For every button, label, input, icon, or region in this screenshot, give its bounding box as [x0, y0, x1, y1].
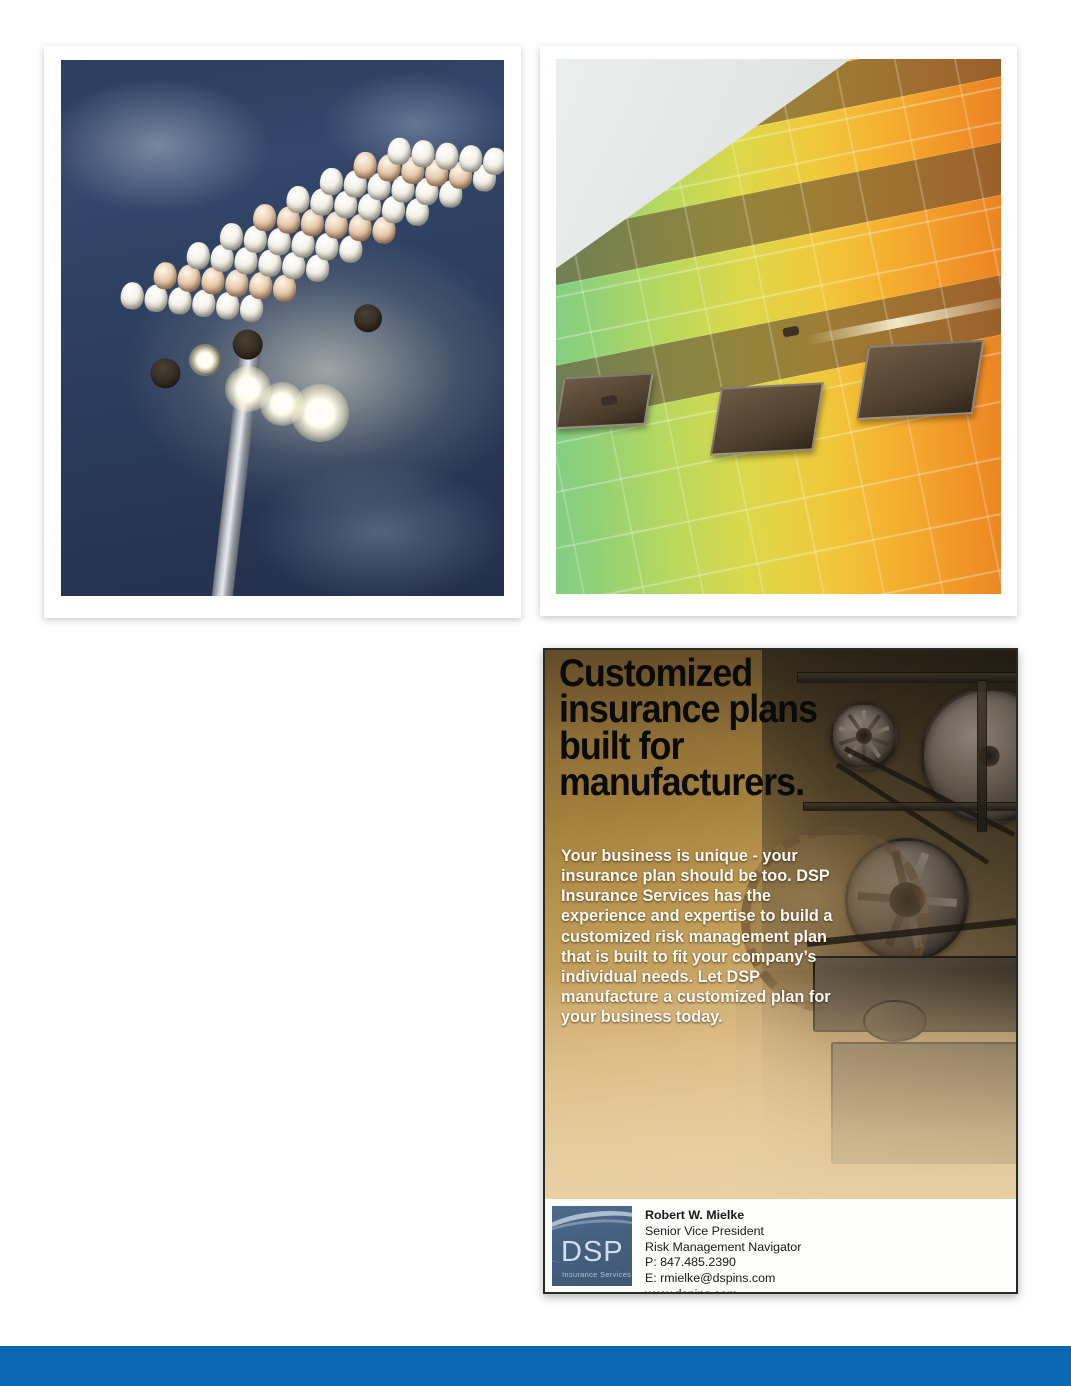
ad-headline: Customized insurance plans built for man…: [559, 656, 835, 801]
contact-website: www.dspins.com: [645, 1287, 801, 1294]
page-footer-bar: [0, 1346, 1071, 1386]
dsp-logo: DSP Insurance Services: [552, 1206, 632, 1286]
ad-body-text: Your business is unique - your insurance…: [561, 846, 839, 1027]
contact-title: Senior Vice President: [645, 1224, 801, 1240]
stadium-lights-photo: [61, 60, 504, 596]
window-awning: [710, 383, 824, 456]
building-facade-photo: [556, 59, 1001, 594]
logo-tagline: Insurance Services: [562, 1270, 631, 1279]
dsp-insurance-advertisement: Customized insurance plans built for man…: [543, 648, 1018, 1294]
contact-email: E: rmielke@dspins.com: [645, 1271, 801, 1287]
contact-phone: P: 847.485.2390: [645, 1255, 801, 1271]
contact-name: Robert W. Mielke: [645, 1208, 801, 1224]
building-facade-photo-frame: [540, 46, 1017, 616]
logo-wordmark: DSP: [561, 1236, 624, 1269]
ad-contact-footer: DSP Insurance Services Robert W. Mielke …: [545, 1199, 1016, 1292]
contact-details: Robert W. Mielke Senior Vice President R…: [645, 1206, 801, 1294]
contact-role: Risk Management Navigator: [645, 1240, 801, 1256]
stadium-lights-photo-frame: [44, 46, 521, 618]
window-awning: [857, 340, 985, 419]
machine-frame-beam: [977, 680, 987, 832]
lit-lamp-glow: [291, 384, 349, 442]
